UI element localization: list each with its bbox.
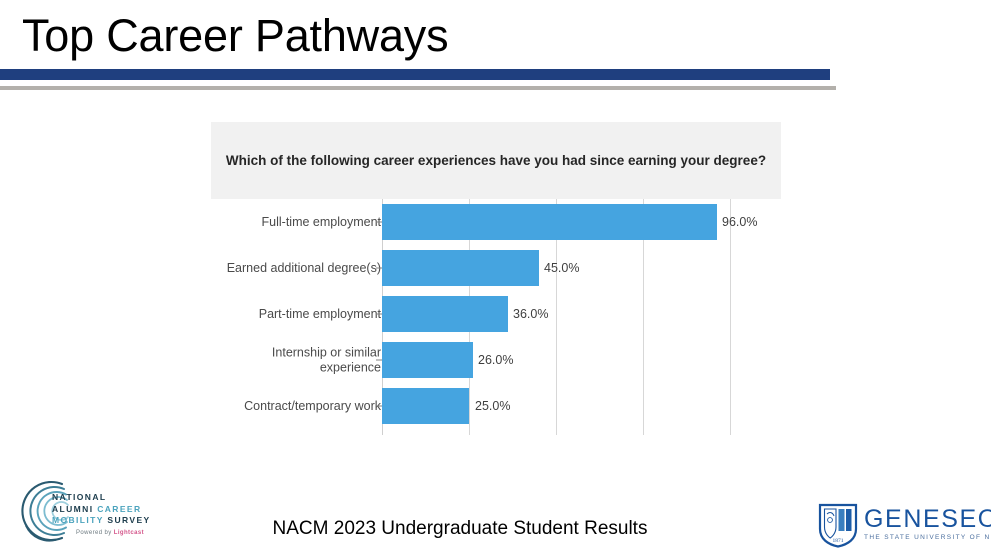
chart-bar[interactable] [382,342,473,378]
title-divider-gray [0,86,836,90]
chart-category-label: Internship or similar experience [221,346,381,375]
chart-bar[interactable] [382,296,508,332]
chart-bar-row: Contract/temporary work 25.0% [211,383,781,429]
chart-bar-row: Earned additional degree(s) 45.0% [211,245,781,291]
chart-value-label: 26.0% [478,353,513,367]
title-divider-blue [0,69,830,80]
chart-value-label: 45.0% [544,261,579,275]
nacm-line-2-career: CAREER [97,504,141,514]
chart-value-label: 36.0% [513,307,548,321]
chart-category-label: Part-time employment [221,307,381,322]
geneseo-logo: 1871 GENESEO THE STATE UNIVERSITY OF NEW… [818,500,986,552]
nacm-line-2-alumni: ALUMNI [52,504,93,514]
nacm-line-1: NATIONAL [52,492,172,504]
chart-category-label: Contract/temporary work [221,399,381,414]
chart-category-label: Full-time employment [221,215,381,230]
chart-value-label: 96.0% [722,215,757,229]
nacm-line-2: ALUMNI CAREER [52,504,172,516]
nacm-wordmark: NATIONAL ALUMNI CAREER MOBILITY SURVEY P… [52,492,172,536]
nacm-logo: NATIONAL ALUMNI CAREER MOBILITY SURVEY P… [8,470,173,554]
shield-icon: 1871 [818,502,858,548]
chart-title: Which of the following career experience… [226,149,766,172]
nacm-line-3-mobility: MOBILITY [52,515,104,525]
chart-bar-row: Part-time employment 36.0% [211,291,781,337]
chart-bar-row: Full-time employment 96.0% [211,199,781,245]
bar-chart: Which of the following career experience… [211,122,781,435]
nacm-line-3: MOBILITY SURVEY [52,515,172,527]
chart-bar[interactable] [382,388,469,424]
chart-bar-row: Internship or similar experience 26.0% [211,337,781,383]
lightcast-brand: Lightcast [114,530,144,536]
chart-bar[interactable] [382,204,717,240]
chart-value-label: 25.0% [475,399,510,413]
chart-bar[interactable] [382,250,539,286]
geneseo-wordmark: GENESEO THE STATE UNIVERSITY OF NEW YORK [864,506,991,541]
geneseo-name: GENESEO [864,506,991,532]
svg-text:1871: 1871 [833,538,844,544]
chart-title-panel: Which of the following career experience… [211,122,781,199]
nacm-powered-prefix: Powered by [76,530,114,536]
chart-category-label: Earned additional degree(s) [221,261,381,276]
nacm-powered-by: Powered by Lightcast [76,530,172,536]
geneseo-tagline: THE STATE UNIVERSITY OF NEW YORK [864,534,991,541]
chart-plot-area: Full-time employment 96.0% Earned additi… [211,199,781,435]
nacm-line-3-survey: SURVEY [107,515,150,525]
page-title: Top Career Pathways [22,8,448,64]
